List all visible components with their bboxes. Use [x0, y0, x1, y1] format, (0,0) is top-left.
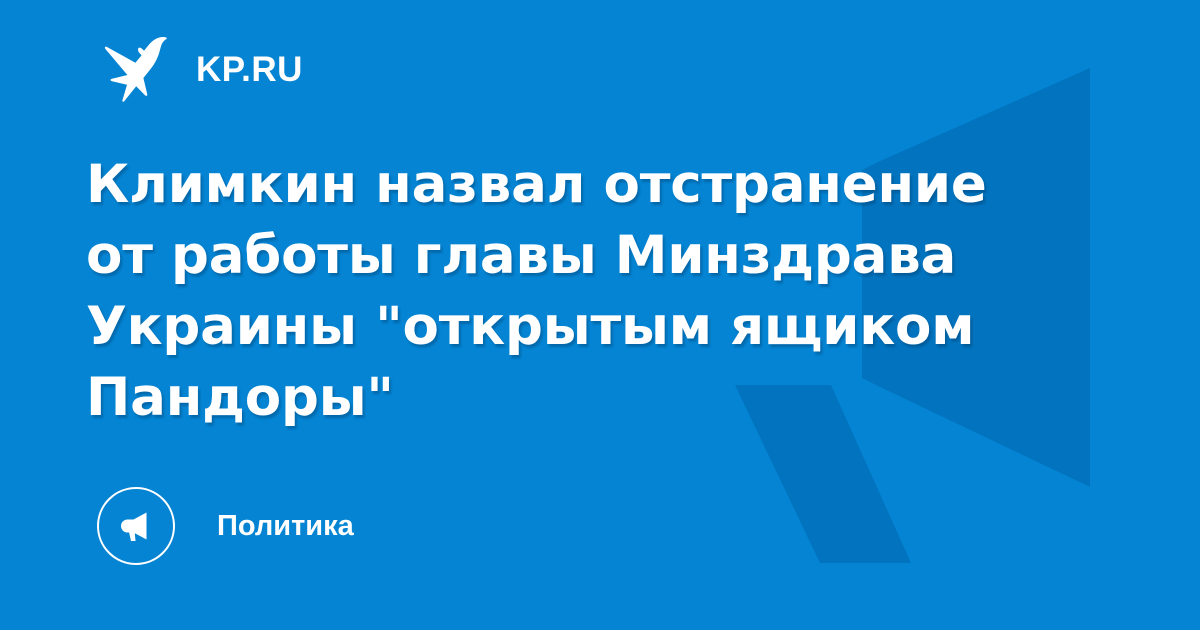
- category-icon-circle: [97, 487, 175, 565]
- headline-line-3: Украины "открытым ящиком: [86, 291, 966, 362]
- category-badge[interactable]: Политика: [97, 486, 354, 566]
- site-logo[interactable]: KP.RU: [100, 33, 303, 105]
- megaphone-icon: [115, 505, 157, 547]
- social-share-card: KP.RU Климкин назвал отстранение от рабо…: [0, 0, 1200, 630]
- category-label: Политика: [217, 512, 354, 541]
- headline-line-1: Климкин назвал отстранение: [86, 149, 966, 220]
- headline-line-2: от работы главы Минздрава: [86, 220, 966, 291]
- article-headline: Климкин назвал отстранение от работы гла…: [86, 149, 966, 433]
- brand-name-text: KP.RU: [196, 52, 303, 87]
- headline-line-4: Пандоры": [86, 362, 966, 433]
- swallow-bird-icon: [100, 35, 174, 103]
